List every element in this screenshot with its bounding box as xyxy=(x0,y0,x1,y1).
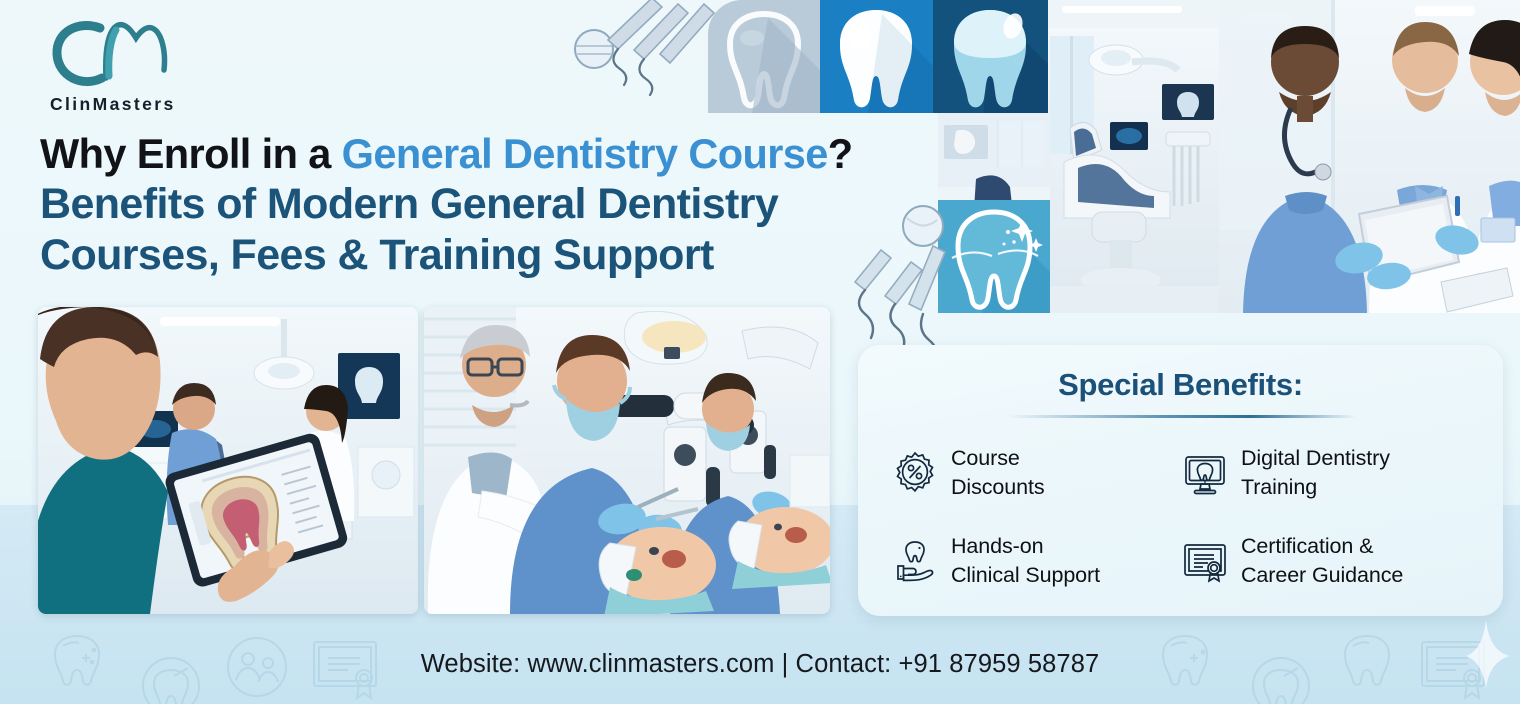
certificate-ribbon-icon xyxy=(1182,538,1228,584)
benefits-title: Special Benefits: xyxy=(858,367,1503,403)
hand-holding-tooth-icon xyxy=(892,538,938,584)
special-benefits-card: Special Benefits: Course Discounts xyxy=(858,345,1503,616)
benefit-item-course-discounts[interactable]: Course Discounts xyxy=(892,429,1182,517)
clinmasters-tooth-c-logo-icon xyxy=(50,18,180,86)
photo-training-microscope-mannequin xyxy=(424,307,830,614)
tooth-tile-navy xyxy=(933,0,1048,113)
benefit-item-certification-career-guidance[interactable]: Certification & Career Guidance xyxy=(1182,517,1472,605)
benefit-item-hands-on-clinical-support[interactable]: Hands-on Clinical Support xyxy=(892,517,1182,605)
dentistry-course-banner: ClinMasters Why Enroll in a General Dent… xyxy=(0,0,1520,704)
photo-dentist-tablet-tooth-scan xyxy=(38,307,418,614)
tooth-tile-blue xyxy=(820,0,933,113)
brand-name: ClinMasters xyxy=(50,94,176,115)
headline-line2: Benefits of Modern General Dentistry xyxy=(40,179,880,230)
brand-logo[interactable]: ClinMasters xyxy=(42,18,232,118)
headline-line3: Courses, Fees & Training Support xyxy=(40,230,880,281)
benefit-label: Course Discounts xyxy=(951,444,1045,502)
page-title: Why Enroll in a General Dentistry Course… xyxy=(40,128,880,281)
photo-clinician-team-tablet xyxy=(1219,0,1520,313)
monitor-tooth-icon xyxy=(1182,450,1228,496)
discount-badge-percent-icon xyxy=(892,450,938,496)
benefit-item-digital-dentistry-training[interactable]: Digital Dentistry Training xyxy=(1182,429,1472,517)
photo-clinic-operatory xyxy=(1048,0,1219,313)
tooth-tile-gray xyxy=(708,0,820,113)
footer-contact-line: Website: www.clinmasters.com | Contact: … xyxy=(0,650,1520,679)
benefits-grid: Course Discounts Digital Dentistry Train… xyxy=(892,429,1472,604)
benefit-label: Certification & Career Guidance xyxy=(1241,532,1403,590)
benefit-label: Hands-on Clinical Support xyxy=(951,532,1100,590)
headline-line1-plain-b: ? xyxy=(828,130,853,177)
headline-line1-plain-a: Why Enroll in a xyxy=(40,130,342,177)
benefits-divider xyxy=(1006,415,1356,418)
benefit-label: Digital Dentistry Training xyxy=(1241,444,1390,502)
headline-line1-highlight: General Dentistry Course xyxy=(342,130,828,177)
